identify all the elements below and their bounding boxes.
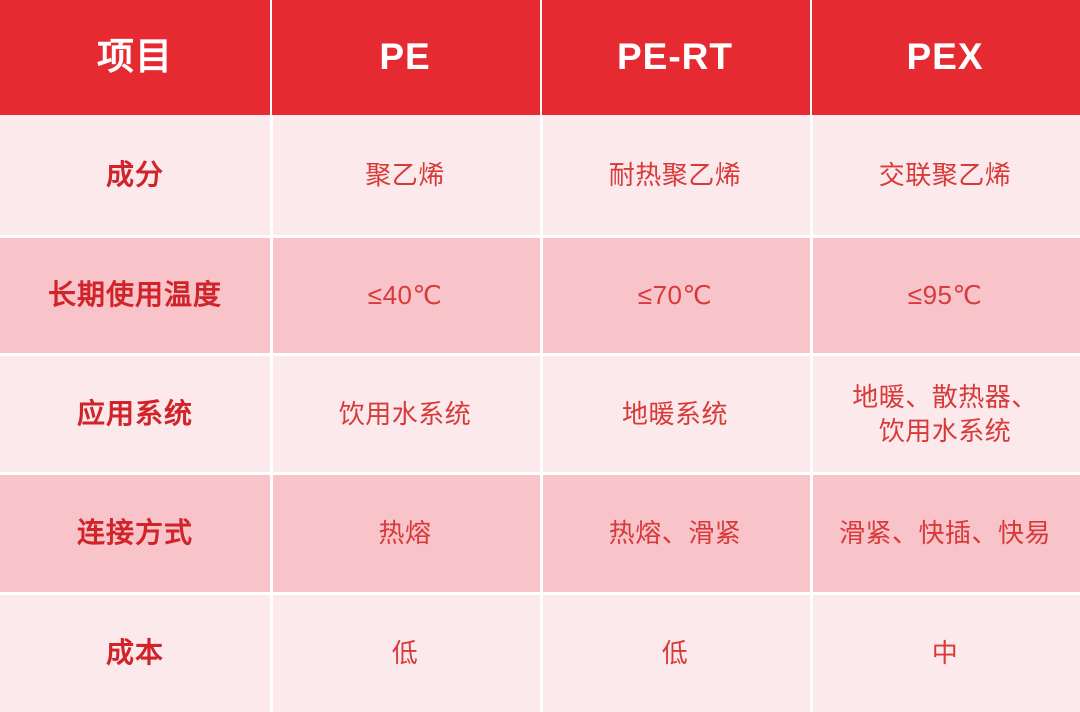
row-value-text-pert: 耐热聚乙烯 — [609, 158, 742, 192]
table-row: 应用系统 饮用水系统 地暖系统 地暖、散热器、 饮用水系统 — [0, 353, 1080, 472]
row-value-cell-pe: 热熔 — [270, 475, 540, 592]
table-row: 成分 聚乙烯 耐热聚乙烯 交联聚乙烯 — [0, 115, 1080, 235]
header-cell-pert: PE-RT — [540, 0, 810, 115]
row-label-cell: 长期使用温度 — [0, 238, 270, 353]
row-value-cell-pert: 热熔、滑紧 — [540, 475, 810, 592]
row-label-text: 成分 — [106, 157, 164, 194]
row-value-text-pe: 热熔 — [378, 516, 431, 550]
table-header-row: 项目 PE PE-RT PEX — [0, 0, 1080, 115]
row-label-cell: 应用系统 — [0, 356, 270, 472]
row-label-cell: 连接方式 — [0, 475, 270, 592]
row-value-cell-pert: 地暖系统 — [540, 356, 810, 472]
row-value-text-pert: 热熔、滑紧 — [609, 516, 742, 550]
row-label-cell: 成分 — [0, 115, 270, 235]
row-label-text: 长期使用温度 — [48, 277, 222, 314]
row-value-text-pex: ≤95℃ — [908, 278, 982, 312]
row-value-text-pex: 交联聚乙烯 — [879, 158, 1012, 192]
row-value-text-pe: ≤40℃ — [368, 278, 442, 312]
row-value-text-pe: 聚乙烯 — [365, 158, 445, 192]
row-value-text-pert: 地暖系统 — [622, 397, 728, 431]
table-row: 长期使用温度 ≤40℃ ≤70℃ ≤95℃ — [0, 235, 1080, 353]
row-value-cell-pex: 中 — [810, 595, 1080, 712]
header-cell-pex: PEX — [810, 0, 1080, 115]
row-value-text-pe: 饮用水系统 — [339, 397, 472, 431]
header-cell-pe: PE — [270, 0, 540, 115]
header-label-pert: PE-RT — [617, 33, 733, 82]
header-label-pe: PE — [379, 33, 430, 82]
row-label-text: 连接方式 — [77, 515, 193, 552]
row-value-cell-pe: ≤40℃ — [270, 238, 540, 353]
row-value-text-pert: 低 — [662, 636, 689, 670]
row-value-cell-pert: ≤70℃ — [540, 238, 810, 353]
row-value-cell-pe: 低 — [270, 595, 540, 712]
header-label-item: 项目 — [97, 33, 173, 82]
table-row: 成本 低 低 中 — [0, 592, 1080, 712]
header-label-pex: PEX — [906, 33, 983, 82]
table-row: 连接方式 热熔 热熔、滑紧 滑紧、快插、快易 — [0, 472, 1080, 592]
row-value-text-pe: 低 — [392, 636, 419, 670]
row-value-cell-pe: 饮用水系统 — [270, 356, 540, 472]
comparison-table: 项目 PE PE-RT PEX 成分 聚乙烯 耐热聚乙烯 交联聚乙烯 长期使用温… — [0, 0, 1080, 712]
row-label-text: 成本 — [106, 635, 164, 672]
row-value-cell-pex: ≤95℃ — [810, 238, 1080, 353]
row-value-text-pex: 地暖、散热器、 饮用水系统 — [852, 380, 1038, 449]
row-value-cell-pe: 聚乙烯 — [270, 115, 540, 235]
row-value-cell-pex: 滑紧、快插、快易 — [810, 475, 1080, 592]
row-value-text-pex: 滑紧、快插、快易 — [839, 516, 1051, 550]
row-label-text: 应用系统 — [77, 396, 193, 433]
row-value-cell-pex: 地暖、散热器、 饮用水系统 — [810, 356, 1080, 472]
row-value-cell-pert: 低 — [540, 595, 810, 712]
row-value-text-pert: ≤70℃ — [638, 278, 712, 312]
header-cell-item: 项目 — [0, 0, 270, 115]
row-value-cell-pert: 耐热聚乙烯 — [540, 115, 810, 235]
row-value-text-pex: 中 — [932, 636, 959, 670]
row-value-cell-pex: 交联聚乙烯 — [810, 115, 1080, 235]
row-label-cell: 成本 — [0, 595, 270, 712]
